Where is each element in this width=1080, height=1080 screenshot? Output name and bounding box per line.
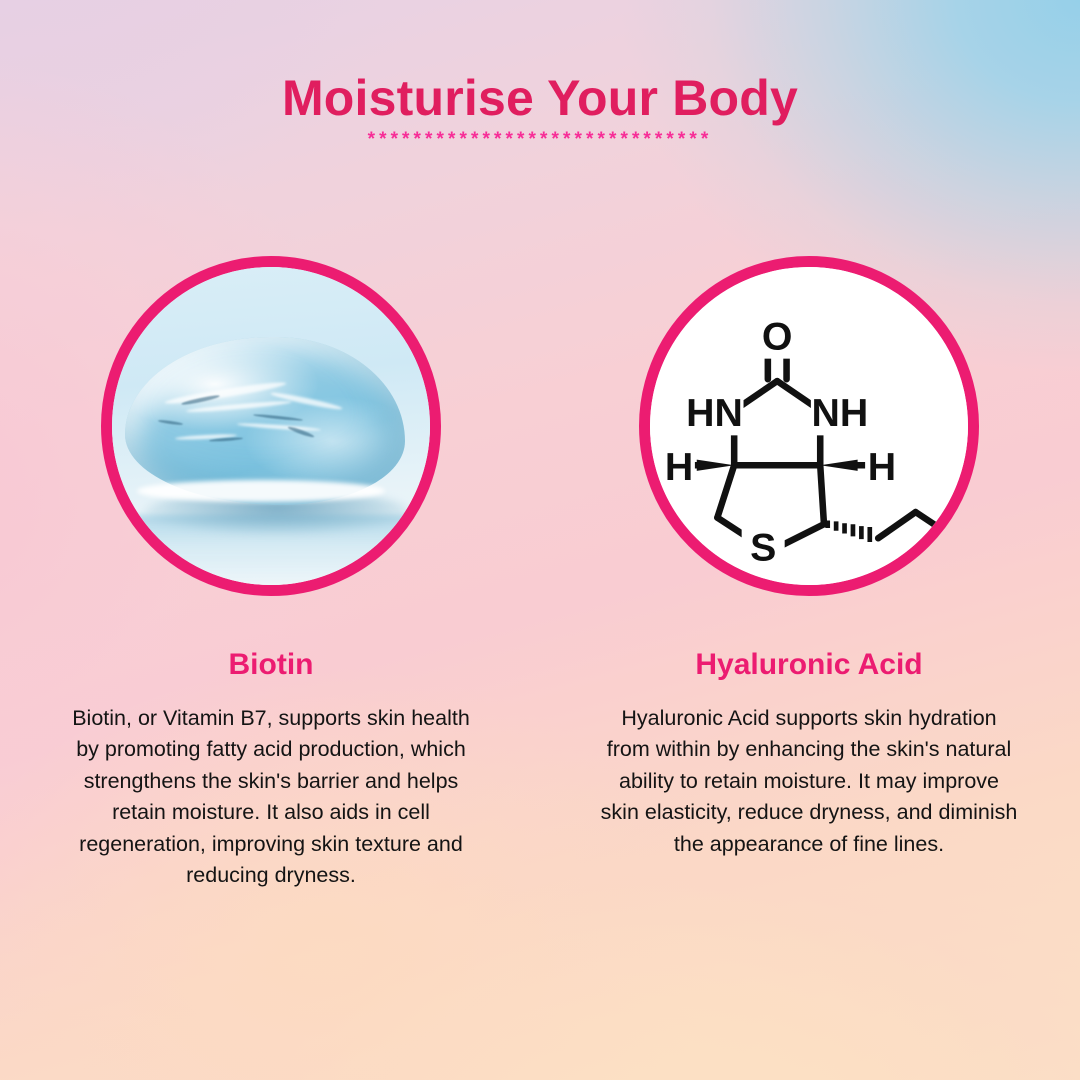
hashed-bond	[828, 520, 870, 542]
wedge-bond-left	[697, 460, 734, 471]
ingredient-card-hyaluronic-acid: O HN NH H H S Hyaluronic Acid Hyaluronic…	[599, 256, 1019, 913]
atom-label-left-nitrogen: HN	[686, 391, 743, 435]
poster-header: Moisturise Your Body *******************…	[0, 72, 1080, 149]
ingredient-card-biotin: Biotin Biotin, or Vitamin B7, supports s…	[61, 256, 481, 913]
gel-highlight-streak	[237, 422, 321, 432]
gel-bubble-detail	[253, 414, 303, 423]
atom-label-oxygen: O	[762, 314, 793, 358]
ingredient-description: Biotin, or Vitamin B7, supports skin hea…	[71, 703, 471, 891]
gel-photo-circle	[101, 256, 441, 596]
page-title: Moisturise Your Body	[0, 72, 1080, 125]
atom-label-right-hydrogen: H	[868, 445, 896, 489]
ingredient-description: Hyaluronic Acid supports skin hydration …	[597, 703, 1021, 860]
gel-highlight-streak	[186, 400, 292, 415]
wedge-bond-right	[820, 460, 857, 471]
ingredient-label: Biotin	[229, 648, 314, 681]
ingredient-columns: Biotin Biotin, or Vitamin B7, supports s…	[0, 256, 1080, 913]
gel-bubble-detail	[158, 419, 183, 425]
atom-label-left-hydrogen: H	[665, 445, 693, 489]
atom-label-sulfur: S	[750, 526, 776, 570]
biotin-structure-icon: O HN NH H H S	[650, 267, 968, 585]
molecule-diagram-circle: O HN NH H H S	[639, 256, 979, 596]
gel-photo-image	[112, 267, 430, 585]
ingredient-label: Hyaluronic Acid	[695, 648, 922, 681]
atom-label-right-nitrogen: NH	[812, 391, 869, 435]
poster-canvas: Moisturise Your Body *******************…	[0, 0, 1080, 1080]
asterisk-divider: ******************************	[0, 130, 1080, 149]
